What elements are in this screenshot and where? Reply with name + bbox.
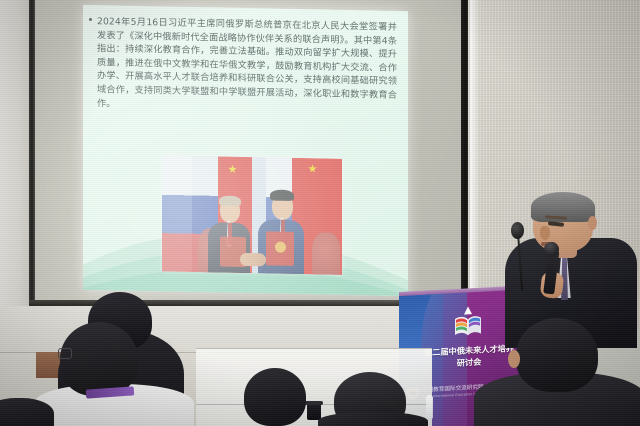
audience-member-center-right-shoulders xyxy=(318,412,428,426)
wall-right-highlight xyxy=(470,0,480,330)
paper-cup-lid xyxy=(305,401,323,405)
gooseneck-mic-icon xyxy=(511,222,524,239)
photo-projection-washout xyxy=(162,155,342,274)
slide-bullet-marker xyxy=(89,18,92,21)
audience-member-right-ear xyxy=(508,350,520,368)
audience-member-center-head xyxy=(244,368,306,426)
speaker-nose xyxy=(540,226,550,240)
screen-frame-left-edge xyxy=(29,0,35,312)
audience-member-right-head xyxy=(516,318,598,392)
slide-body-text: 2024年5月16日习近平主席同俄罗斯总统普京在北京人民大会堂签署并发表了《深化… xyxy=(97,15,397,116)
speaker-ear xyxy=(588,216,597,230)
projected-slide: 2024年5月16日习近平主席同俄罗斯总统普京在北京人民大会堂签署并发表了《深化… xyxy=(83,5,408,296)
audience-member-white-shirt-head xyxy=(60,322,138,396)
audience-glasses-icon xyxy=(58,348,72,359)
conference-photo-scene: 2024年5月16日习近平主席同俄罗斯总统普京在北京人民大会堂签署并发表了《深化… xyxy=(0,0,640,426)
paper-cup xyxy=(307,404,321,420)
event-logo-book-icon xyxy=(453,304,483,340)
slide-photo-handshake xyxy=(162,155,342,274)
water-bottle xyxy=(426,395,433,419)
